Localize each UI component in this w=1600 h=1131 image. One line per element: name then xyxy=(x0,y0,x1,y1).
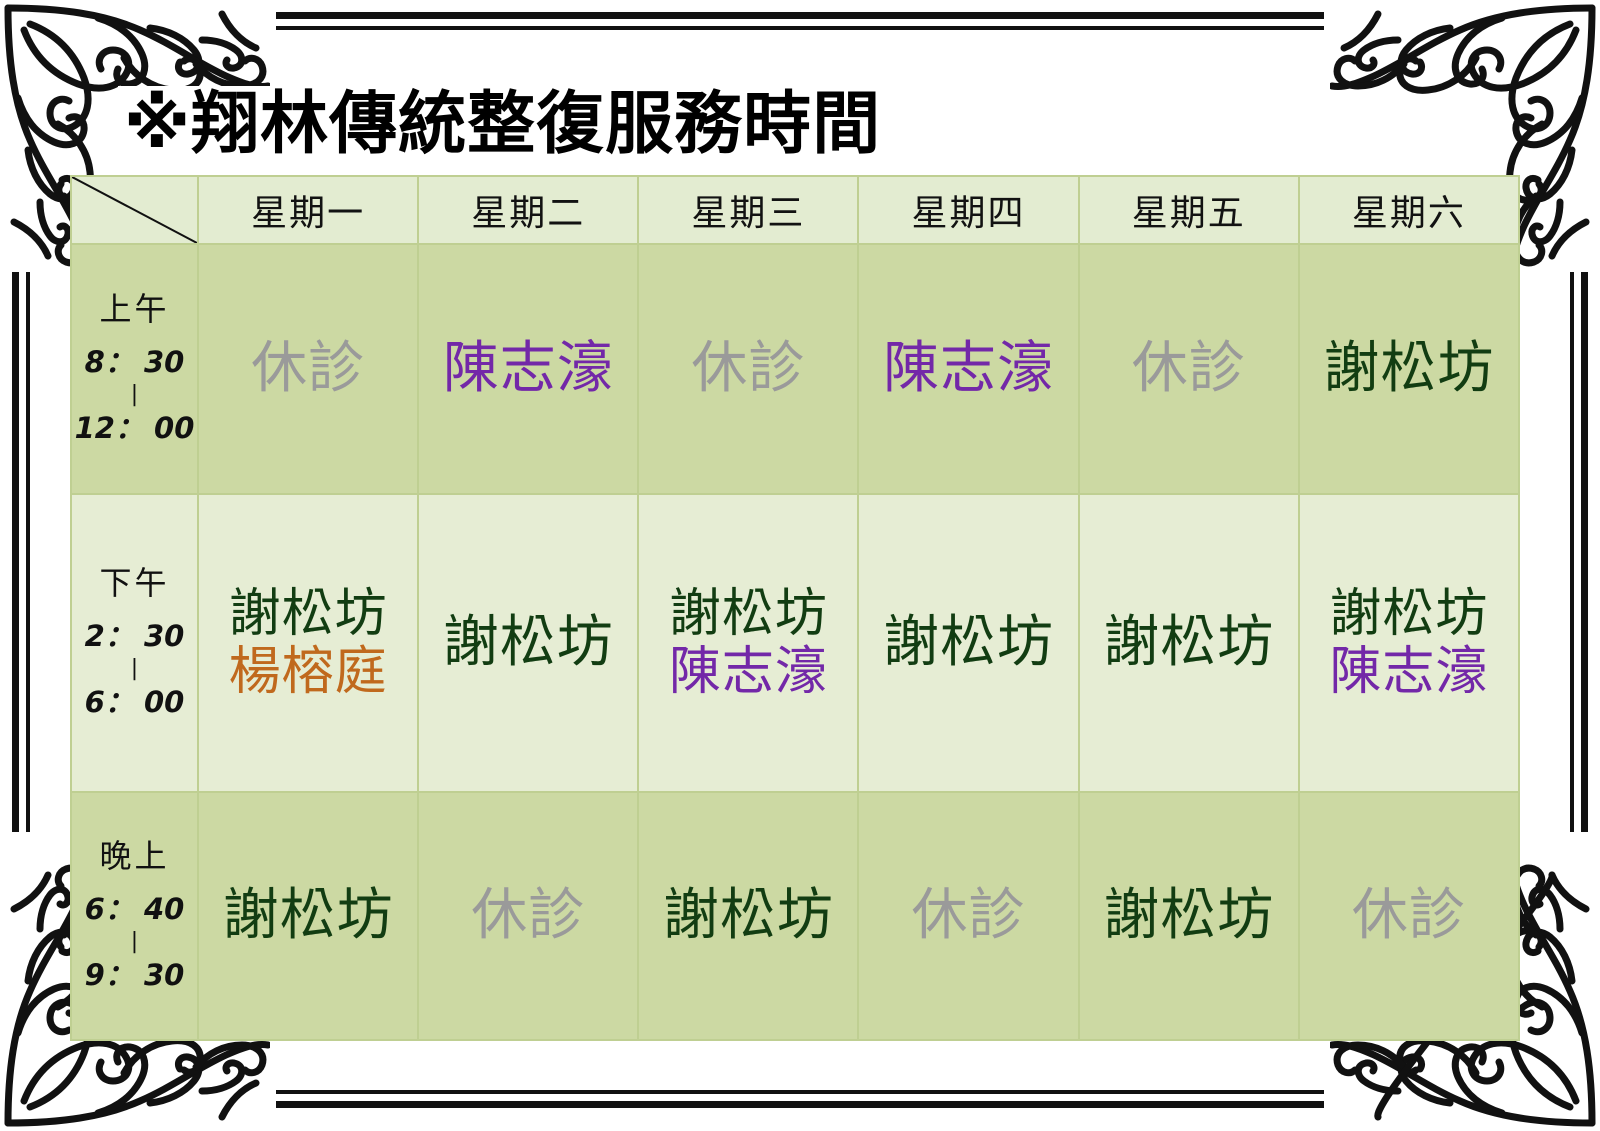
table-row-afternoon: 下午 2： 30 | 6： 00 謝松坊 楊榕庭 xyxy=(71,494,1519,792)
frame-rule-bottom-outer xyxy=(276,1101,1324,1108)
practitioner-name: 謝松坊 xyxy=(223,885,394,948)
practitioner-name: 休診 xyxy=(1352,885,1466,948)
practitioner-name: 休診 xyxy=(912,885,1026,948)
day-header-mon: 星期一 xyxy=(198,176,418,244)
schedule-cell-tue-ev: 休診 xyxy=(418,792,638,1040)
practitioner-name: 謝松坊 xyxy=(883,612,1054,675)
practitioner-name: 謝松坊 xyxy=(1103,612,1274,675)
frame-rule-right-inner xyxy=(1570,272,1574,832)
practitioner-name: 謝松坊 xyxy=(1323,338,1494,401)
name-stack: 休診 xyxy=(639,338,857,401)
name-stack: 休診 xyxy=(1080,338,1298,401)
time-cell-afternoon: 下午 2： 30 | 6： 00 xyxy=(71,494,198,792)
schedule-cell-thu-ev: 休診 xyxy=(858,792,1078,1040)
name-stack: 陳志濠 xyxy=(859,338,1077,401)
time-end-afternoon: 6： 00 xyxy=(85,685,185,719)
schedule-table: 星期一 星期二 星期三 星期四 星期五 星期六 上午 8： 30 | xyxy=(70,175,1520,1041)
name-stack: 謝松坊 xyxy=(199,885,417,948)
name-stack: 謝松坊 xyxy=(1300,338,1518,401)
name-stack: 謝松坊 xyxy=(859,612,1077,675)
time-cell-evening: 晚上 6： 40 | 9： 30 xyxy=(71,792,198,1040)
name-stack: 謝松坊 陳志濠 xyxy=(1300,585,1518,701)
practitioner-name: 謝松坊 xyxy=(443,612,614,675)
name-stack: 謝松坊 陳志濠 xyxy=(639,585,857,701)
table-row-morning: 上午 8： 30 | 12： 00 休診 xyxy=(71,244,1519,494)
practitioner-name: 陳志濠 xyxy=(443,338,614,401)
name-stack: 休診 xyxy=(1300,885,1518,948)
schedule-cell-mon-pm: 謝松坊 楊榕庭 xyxy=(198,494,418,792)
day-header-sat: 星期六 xyxy=(1299,176,1519,244)
practitioner-name: 謝松坊 xyxy=(1103,885,1274,948)
practitioner-name: 陳志濠 xyxy=(1329,643,1488,701)
schedule-cell-tue-am: 陳志濠 xyxy=(418,244,638,494)
corner-header-cell xyxy=(71,176,198,244)
period-label-morning: 上午 xyxy=(72,289,197,329)
time-start-evening: 6： 40 xyxy=(85,892,185,926)
time-dash-evening: | xyxy=(72,930,197,954)
day-header-fri: 星期五 xyxy=(1079,176,1299,244)
schedule-cell-thu-am: 陳志濠 xyxy=(858,244,1078,494)
time-end-evening: 9： 30 xyxy=(85,958,185,992)
schedule-cell-wed-am: 休診 xyxy=(638,244,858,494)
schedule-cell-tue-pm: 謝松坊 xyxy=(418,494,638,792)
name-stack: 陳志濠 xyxy=(419,338,637,401)
diagonal-divider-icon xyxy=(72,177,197,243)
practitioner-name: 休診 xyxy=(471,885,585,948)
frame-rule-left-inner xyxy=(26,272,30,832)
practitioner-name: 休診 xyxy=(691,338,805,401)
name-stack: 謝松坊 xyxy=(1080,612,1298,675)
name-stack: 休診 xyxy=(419,885,637,948)
frame-rule-right-outer xyxy=(1581,272,1588,832)
practitioner-name: 謝松坊 xyxy=(669,585,828,643)
practitioner-name: 休診 xyxy=(1132,338,1246,401)
time-dash-afternoon: | xyxy=(72,657,197,681)
day-header-thu: 星期四 xyxy=(858,176,1078,244)
name-stack: 休診 xyxy=(859,885,1077,948)
frame-rule-left-outer xyxy=(12,272,19,832)
time-range-morning: 8： 30 | 12： 00 xyxy=(72,341,197,449)
name-stack: 謝松坊 楊榕庭 xyxy=(199,585,417,701)
day-header-tue: 星期二 xyxy=(418,176,638,244)
practitioner-name: 謝松坊 xyxy=(663,885,834,948)
time-range-afternoon: 2： 30 | 6： 00 xyxy=(72,615,197,723)
name-stack: 謝松坊 xyxy=(639,885,857,948)
schedule-cell-sat-ev: 休診 xyxy=(1299,792,1519,1040)
schedule-cell-wed-pm: 謝松坊 陳志濠 xyxy=(638,494,858,792)
practitioner-name: 謝松坊 xyxy=(1329,585,1488,643)
poster-page: ※翔林傳統整復服務時間 星期一 星期二 星期三 星期四 xyxy=(0,0,1600,1131)
practitioner-name: 陳志濠 xyxy=(669,643,828,701)
period-label-afternoon: 下午 xyxy=(72,563,197,603)
frame-rule-top-inner xyxy=(276,26,1324,30)
schedule-cell-fri-am: 休診 xyxy=(1079,244,1299,494)
practitioner-name: 陳志濠 xyxy=(883,338,1054,401)
time-end-morning: 12： 00 xyxy=(75,411,195,445)
practitioner-name: 楊榕庭 xyxy=(229,643,388,701)
schedule-table-wrapper: 星期一 星期二 星期三 星期四 星期五 星期六 上午 8： 30 | xyxy=(70,175,1520,1037)
schedule-cell-mon-am: 休診 xyxy=(198,244,418,494)
schedule-cell-mon-ev: 謝松坊 xyxy=(198,792,418,1040)
schedule-cell-sat-am: 謝松坊 xyxy=(1299,244,1519,494)
name-stack: 休診 xyxy=(199,338,417,401)
table-row-evening: 晚上 6： 40 | 9： 30 謝松坊 xyxy=(71,792,1519,1040)
practitioner-name: 休診 xyxy=(251,338,365,401)
time-start-morning: 8： 30 xyxy=(85,345,185,379)
schedule-cell-sat-pm: 謝松坊 陳志濠 xyxy=(1299,494,1519,792)
schedule-cell-wed-ev: 謝松坊 xyxy=(638,792,858,1040)
frame-rule-top-outer xyxy=(276,12,1324,19)
name-stack: 謝松坊 xyxy=(419,612,637,675)
time-cell-morning: 上午 8： 30 | 12： 00 xyxy=(71,244,198,494)
period-label-evening: 晚上 xyxy=(72,836,197,876)
page-title: ※翔林傳統整復服務時間 xyxy=(118,86,887,164)
name-stack: 謝松坊 xyxy=(1080,885,1298,948)
time-dash-morning: | xyxy=(72,383,197,407)
time-start-afternoon: 2： 30 xyxy=(85,619,185,653)
practitioner-name: 謝松坊 xyxy=(229,585,388,643)
day-header-wed: 星期三 xyxy=(638,176,858,244)
table-header-row: 星期一 星期二 星期三 星期四 星期五 星期六 xyxy=(71,176,1519,244)
schedule-cell-thu-pm: 謝松坊 xyxy=(858,494,1078,792)
schedule-cell-fri-pm: 謝松坊 xyxy=(1079,494,1299,792)
time-range-evening: 6： 40 | 9： 30 xyxy=(72,888,197,996)
frame-rule-bottom-inner xyxy=(276,1090,1324,1094)
schedule-cell-fri-ev: 謝松坊 xyxy=(1079,792,1299,1040)
